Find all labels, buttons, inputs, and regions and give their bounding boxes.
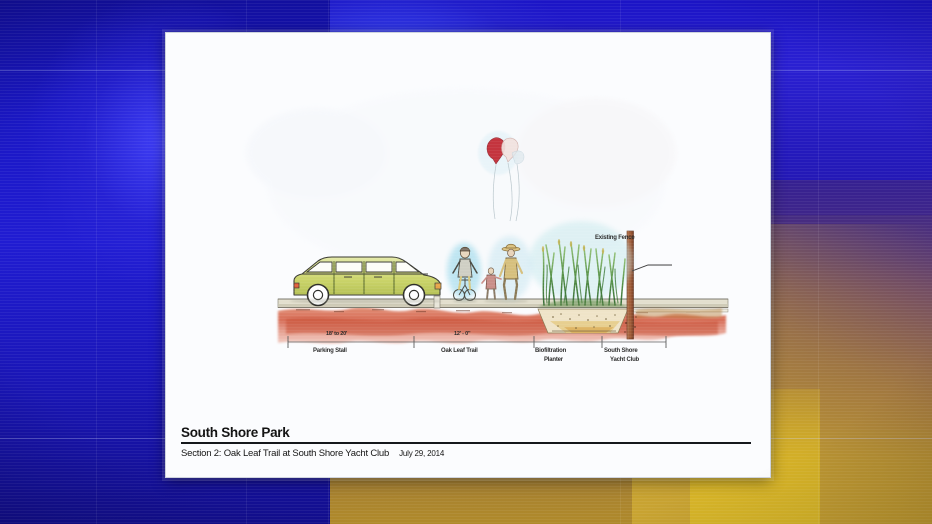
zone-label-biofiltration-planter-line1: Biofiltration	[535, 348, 566, 356]
drawing-date: July 29, 2014	[399, 449, 444, 458]
zone-label-south-shore-yacht-club-line1: South Shore	[604, 348, 637, 356]
background-seam-1	[96, 0, 97, 524]
title-rule	[181, 442, 751, 444]
section-subtitle-row: Section 2: Oak Leaf Trail at South Shore…	[181, 448, 751, 459]
annotation-existing-fence: Existing Fence	[595, 235, 635, 243]
zone-label-south-shore-yacht-club-line2: Yacht Club	[610, 357, 639, 365]
biofiltration-planter-basin	[538, 309, 628, 333]
zone-label-biofiltration-planter-line2: Planter	[544, 357, 563, 365]
dimension-value-oak-leaf-trail: 12' - 0"	[454, 331, 470, 338]
dimension-label-oak-leaf-trail: Oak Leaf Trail	[441, 348, 478, 356]
title-block: South Shore Park Section 2: Oak Leaf Tra…	[181, 425, 751, 459]
yacht-club-ground	[636, 308, 722, 319]
background-seam-5	[818, 0, 819, 524]
dimension-label-parking-stall: Parking Stall	[313, 348, 347, 356]
slide-panel: 18' to 20' Parking Stall 12' - 0" Oak Le…	[165, 32, 771, 478]
section-drawing	[166, 33, 770, 393]
broadcast-stage: 18' to 20' Parking Stall 12' - 0" Oak Le…	[0, 0, 932, 524]
dimension-value-parking-stall: 18' to 20'	[326, 331, 347, 338]
section-subtitle: Section 2: Oak Leaf Trail at South Shore…	[181, 448, 389, 459]
project-title: South Shore Park	[181, 425, 751, 440]
